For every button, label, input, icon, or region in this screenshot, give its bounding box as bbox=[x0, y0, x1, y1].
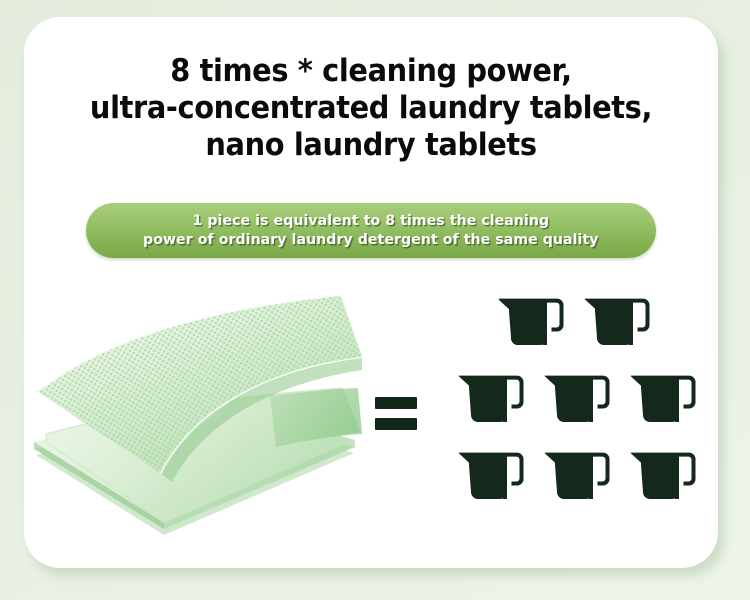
equals-bar-top bbox=[375, 397, 417, 409]
laundry-sheet-icon bbox=[24, 292, 369, 537]
measuring-cup-icon bbox=[541, 444, 614, 507]
title-line-1: 8 times * cleaning power, bbox=[48, 53, 693, 90]
measuring-cup-icon bbox=[627, 367, 700, 430]
measuring-cup-icon bbox=[455, 367, 528, 430]
page-title: 8 times * cleaning power, ultra-concentr… bbox=[24, 53, 718, 164]
cup-row-3 bbox=[436, 444, 718, 507]
equals-sign: = bbox=[371, 387, 425, 439]
content-card: 8 times * cleaning power, ultra-concentr… bbox=[24, 17, 718, 568]
comparison-row: = bbox=[24, 282, 718, 552]
claim-banner-line-1: 1 piece is equivalent to 8 times the cle… bbox=[193, 212, 550, 231]
cup-row-1 bbox=[436, 290, 718, 353]
title-line-3: nano laundry tablets bbox=[48, 127, 693, 164]
claim-banner: 1 piece is equivalent to 8 times the cle… bbox=[86, 203, 656, 258]
equals-bar-bottom bbox=[375, 418, 417, 430]
title-line-2: ultra-concentrated laundry tablets, bbox=[48, 90, 693, 127]
measuring-cup-icon bbox=[495, 290, 568, 353]
promo-page: 8 times * cleaning power, ultra-concentr… bbox=[0, 0, 750, 600]
measuring-cup-icon bbox=[455, 444, 528, 507]
measuring-cup-icon bbox=[581, 290, 654, 353]
claim-banner-line-2: power of ordinary laundry detergent of t… bbox=[143, 231, 598, 250]
cup-row-2 bbox=[436, 367, 718, 430]
laundry-sheets-illustration bbox=[24, 292, 369, 537]
measuring-cup-icon bbox=[627, 444, 700, 507]
measuring-cup-icon bbox=[541, 367, 614, 430]
measuring-cups-group bbox=[436, 290, 718, 530]
equals-sign-label: = bbox=[371, 387, 372, 388]
